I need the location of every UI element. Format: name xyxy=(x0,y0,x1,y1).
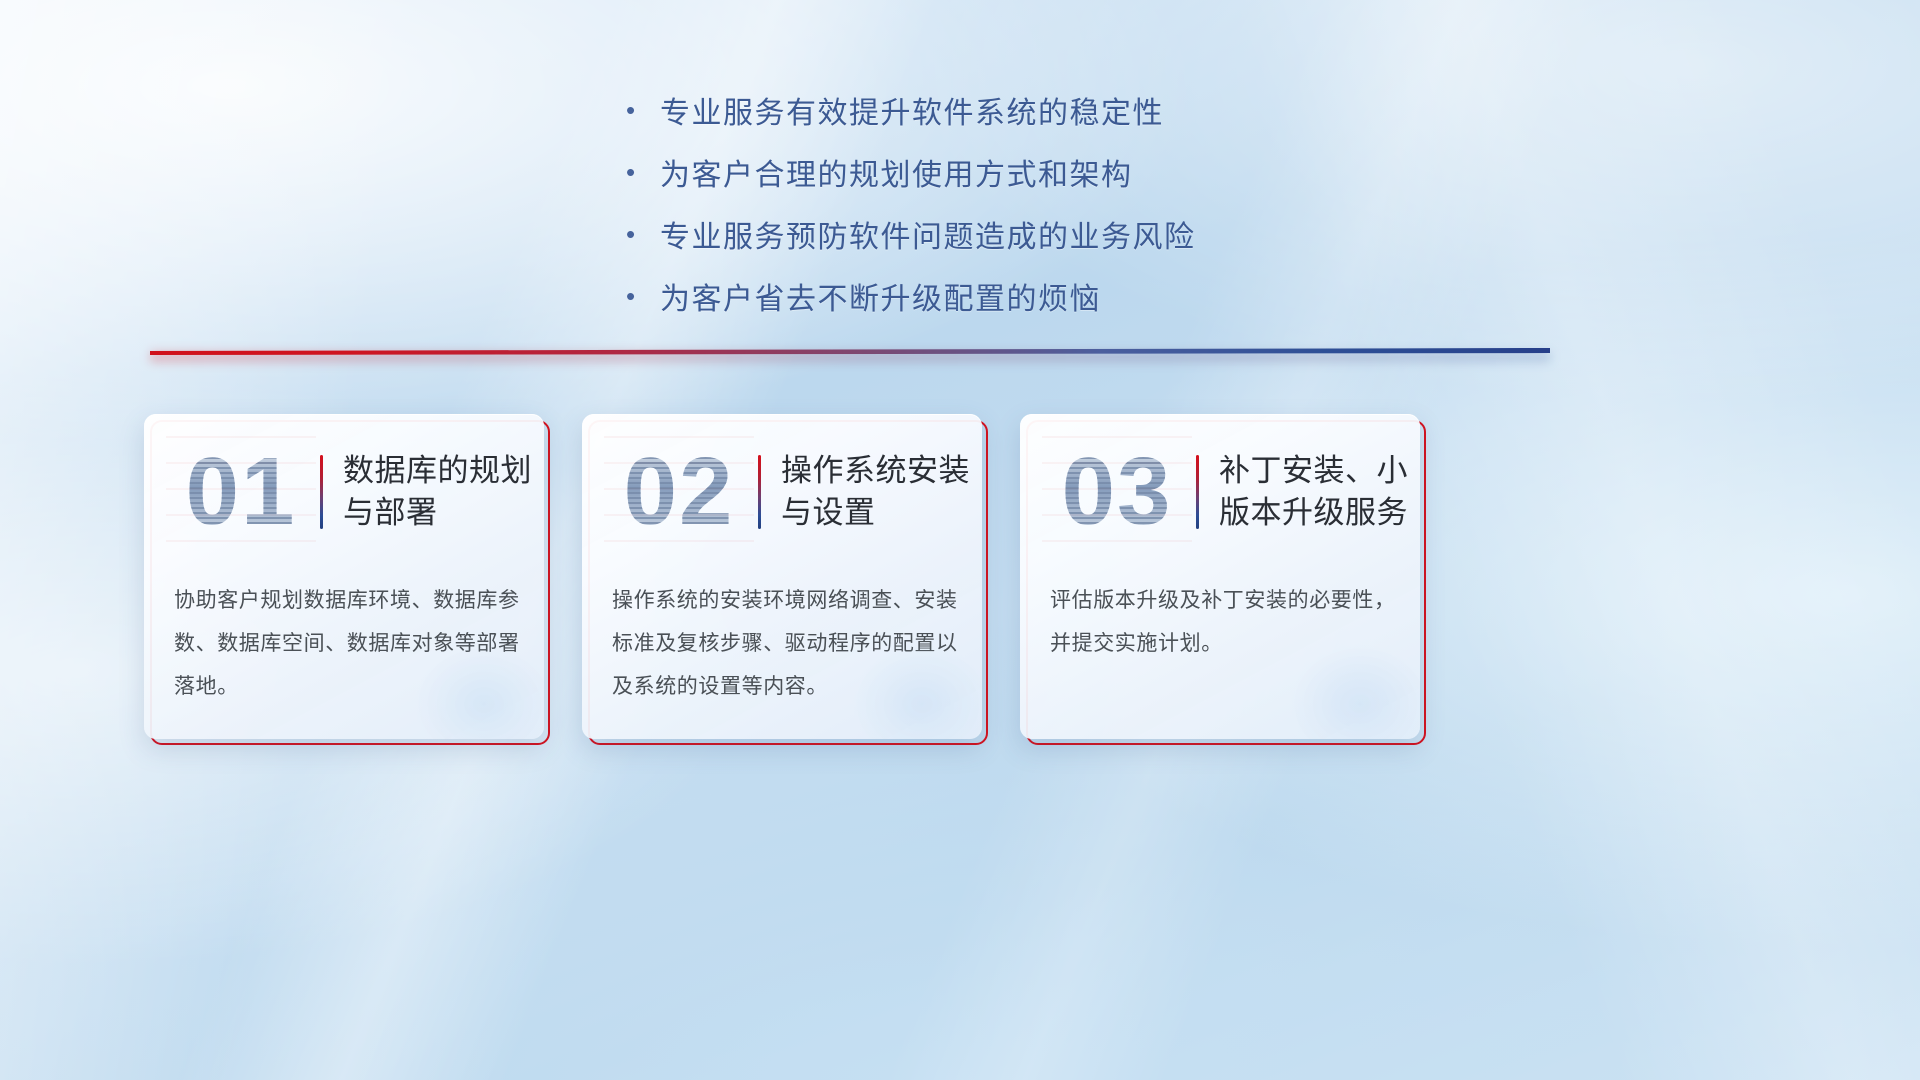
card-surface: 02 操作系统安装与设置 操作系统的安装环境网络调查、安装标准及复核步骤、驱动程… xyxy=(582,414,982,739)
card-number: 03 xyxy=(1042,437,1192,547)
card-surface: 01 数据库的规划与部署 协助客户规划数据库环境、数据库参数、数据库空间、数据库… xyxy=(144,414,544,739)
slide-canvas: • 专业服务有效提升软件系统的稳定性 • 为客户合理的规划使用方式和架构 • 专… xyxy=(0,0,1920,1080)
list-item: • 为客户合理的规划使用方式和架构 xyxy=(620,150,1300,194)
bullet-dot-icon: • xyxy=(620,221,660,247)
list-item: • 专业服务有效提升软件系统的稳定性 xyxy=(620,88,1300,132)
card-divider-bar xyxy=(1196,455,1199,529)
card-divider-bar xyxy=(758,455,761,529)
bullet-list: • 专业服务有效提升软件系统的稳定性 • 为客户合理的规划使用方式和架构 • 专… xyxy=(0,88,1920,318)
card-header: 02 操作系统安装与设置 xyxy=(582,414,982,569)
card-title: 补丁安装、小版本升级服务 xyxy=(1219,450,1420,534)
card-body-text: 评估版本升级及补丁安装的必要性，并提交实施计划。 xyxy=(1050,579,1396,665)
bullet-dot-icon: • xyxy=(620,283,660,309)
feature-card[interactable]: 01 数据库的规划与部署 协助客户规划数据库环境、数据库参数、数据库空间、数据库… xyxy=(150,420,550,745)
card-surface: 03 补丁安装、小版本升级服务 评估版本升级及补丁安装的必要性，并提交实施计划。 xyxy=(1020,414,1420,739)
section-divider xyxy=(150,340,1550,366)
card-row: 01 数据库的规划与部署 协助客户规划数据库环境、数据库参数、数据库空间、数据库… xyxy=(150,420,1770,750)
bullet-text: 为客户合理的规划使用方式和架构 xyxy=(660,150,1133,194)
feature-card[interactable]: 02 操作系统安装与设置 操作系统的安装环境网络调查、安装标准及复核步骤、驱动程… xyxy=(588,420,988,745)
list-item: • 专业服务预防软件问题造成的业务风险 xyxy=(620,212,1300,256)
card-body-text: 协助客户规划数据库环境、数据库参数、数据库空间、数据库对象等部署落地。 xyxy=(174,579,520,708)
card-title: 数据库的规划与部署 xyxy=(343,450,544,534)
bullet-text: 专业服务预防软件问题造成的业务风险 xyxy=(660,212,1196,256)
bullet-text: 专业服务有效提升软件系统的稳定性 xyxy=(660,88,1164,132)
card-number: 02 xyxy=(604,437,754,547)
card-body-text: 操作系统的安装环境网络调查、安装标准及复核步骤、驱动程序的配置以及系统的设置等内… xyxy=(612,579,958,708)
card-divider-bar xyxy=(320,455,323,529)
card-title: 操作系统安装与设置 xyxy=(781,450,982,534)
card-header: 03 补丁安装、小版本升级服务 xyxy=(1020,414,1420,569)
list-item: • 为客户省去不断升级配置的烦恼 xyxy=(620,274,1300,318)
bullet-dot-icon: • xyxy=(620,97,660,123)
card-number: 01 xyxy=(166,437,316,547)
bullet-dot-icon: • xyxy=(620,159,660,185)
card-header: 01 数据库的规划与部署 xyxy=(144,414,544,569)
bullet-text: 为客户省去不断升级配置的烦恼 xyxy=(660,274,1101,318)
feature-card[interactable]: 03 补丁安装、小版本升级服务 评估版本升级及补丁安装的必要性，并提交实施计划。 xyxy=(1026,420,1426,745)
